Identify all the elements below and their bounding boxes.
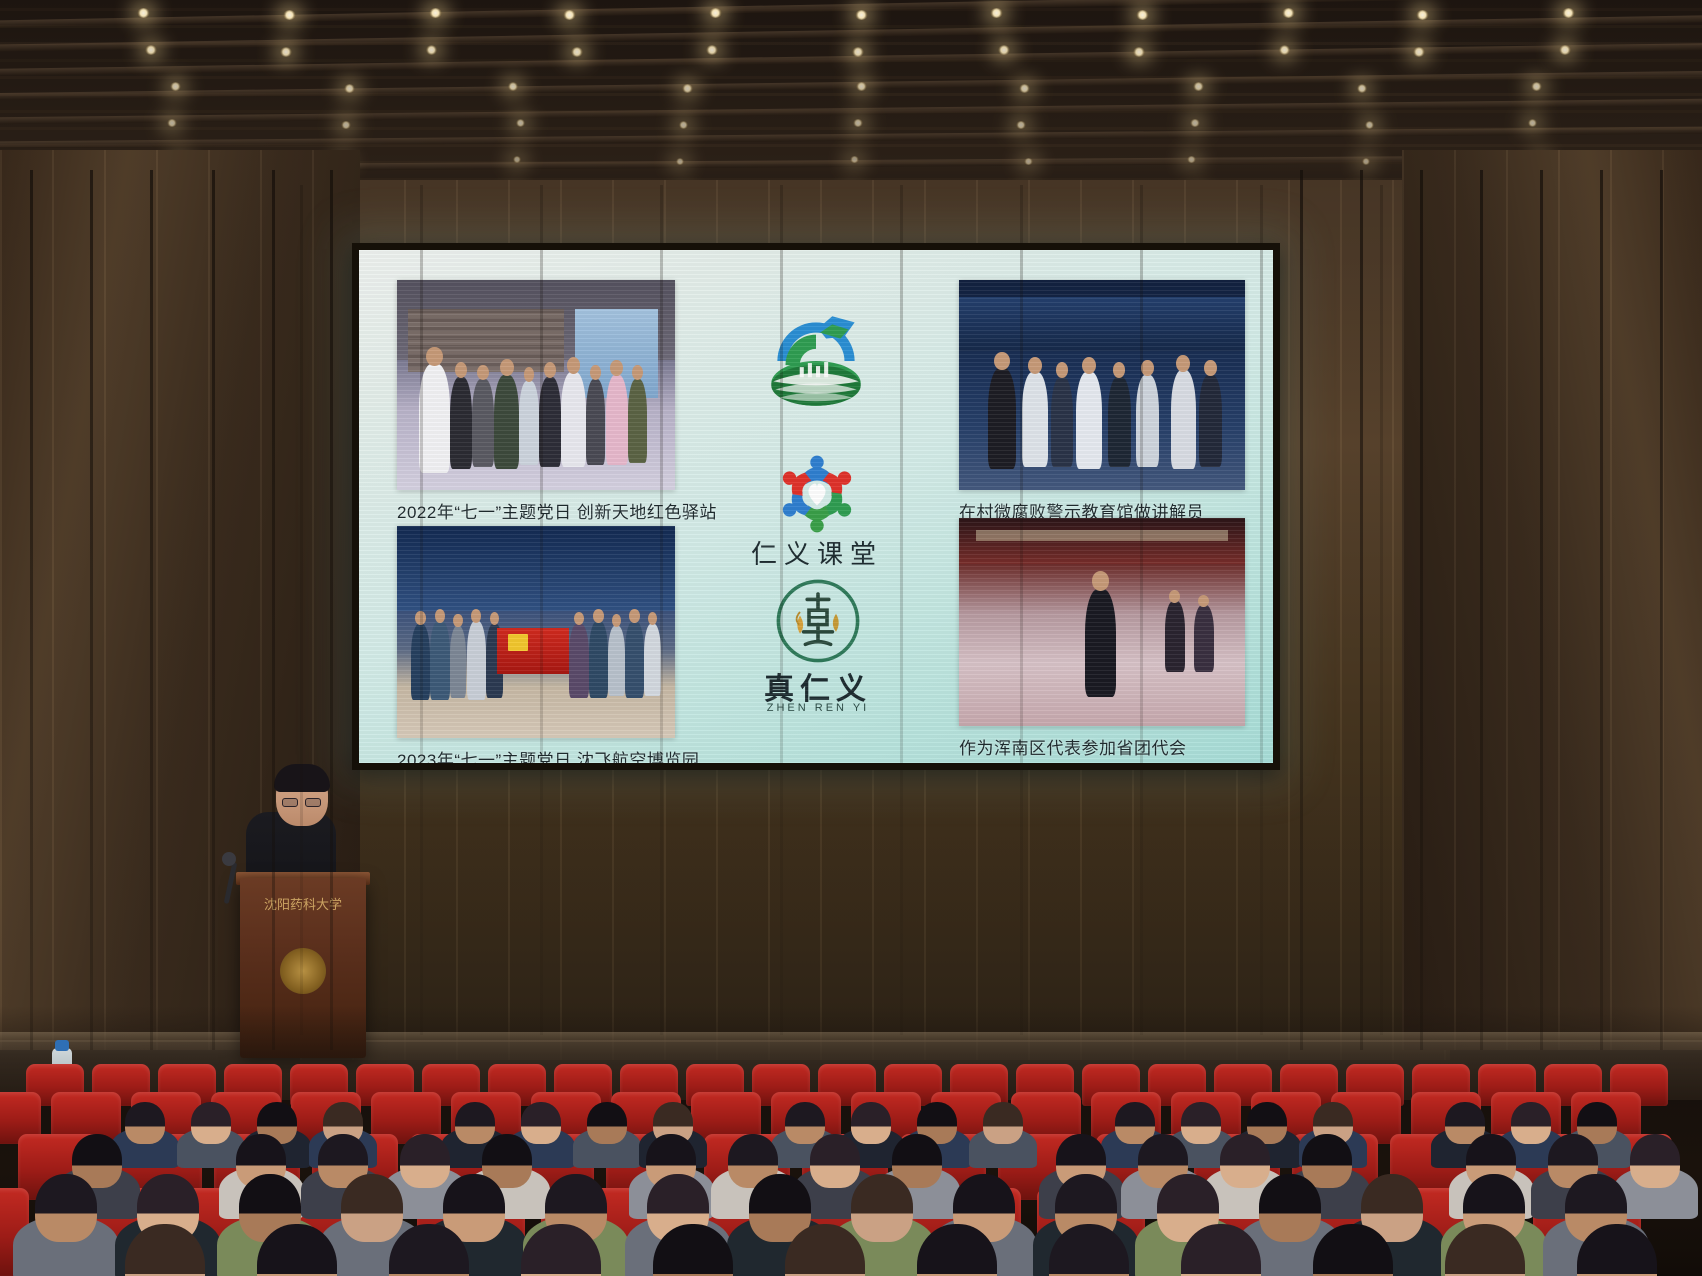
ceiling-light xyxy=(682,84,693,93)
right-wall-texture xyxy=(1402,150,1702,1050)
caption-bottom-right: 作为浑南区代表参加省团代会 xyxy=(959,734,1187,759)
ceiling-light xyxy=(856,82,867,91)
photo-figure xyxy=(1051,377,1074,467)
ceiling-slat xyxy=(0,25,1702,28)
photo-figure xyxy=(625,621,644,697)
wall-panel-seam xyxy=(30,170,33,1050)
photo-figure xyxy=(450,626,467,698)
ceiling-light xyxy=(1136,10,1149,20)
photo-figure xyxy=(608,626,625,696)
ceiling-light xyxy=(852,47,864,57)
photo-figure xyxy=(519,381,538,465)
ceiling-light xyxy=(1365,121,1375,129)
wall-panel-seam xyxy=(150,170,153,1050)
photo-figure xyxy=(1194,605,1214,672)
photo-figure xyxy=(589,621,608,697)
ceiling-light xyxy=(1019,84,1030,93)
photo-figure-head xyxy=(1204,360,1217,377)
photo-figure xyxy=(988,368,1017,469)
ceiling-light xyxy=(1016,121,1026,129)
back-wall-seam xyxy=(540,185,543,1035)
photo-figure xyxy=(561,372,586,467)
back-wall-seam xyxy=(900,185,903,1035)
photo-figure xyxy=(430,621,449,699)
audience-member-head xyxy=(1181,1102,1221,1144)
presentation-slide: 2022年“七一”主题党日 创新天地红色驿站 在村微腐败警示教育馆做讲解员 20… xyxy=(359,250,1273,763)
ceiling-light xyxy=(167,119,177,127)
screenshot-root: 2022年“七一”主题党日 创新天地红色驿站 在村微腐败警示教育馆做讲解员 20… xyxy=(0,0,1702,1276)
back-wall-seam xyxy=(780,185,783,1035)
ceiling-slat xyxy=(0,42,1702,45)
ceiling-light xyxy=(1416,10,1429,20)
ceiling-light xyxy=(850,156,859,163)
back-wall-seam xyxy=(1260,185,1263,1035)
audience-member-head xyxy=(1220,1134,1270,1188)
ceiling-light xyxy=(341,121,351,129)
photo-figure xyxy=(644,624,661,696)
logo-zhen-ren-yi xyxy=(773,576,863,666)
photo-figure xyxy=(1171,370,1197,469)
audience-member-head xyxy=(1511,1102,1551,1144)
photo-figure-head xyxy=(426,347,443,367)
eyeglasses-right-lens xyxy=(305,798,321,807)
ceiling-slat xyxy=(0,110,1702,113)
back-wall-seam xyxy=(660,185,663,1035)
audience-member-head xyxy=(785,1102,825,1144)
ceiling-light xyxy=(426,45,438,55)
ceiling-light xyxy=(1279,45,1291,55)
photo-figure xyxy=(1076,372,1102,469)
photo-figure-head xyxy=(994,352,1010,370)
ceiling-light xyxy=(145,45,157,55)
photo-figure-head xyxy=(1198,595,1209,607)
photo-figure-head xyxy=(500,359,514,376)
ceiling-light xyxy=(1531,82,1542,91)
audience-member-head xyxy=(851,1174,913,1242)
ceiling-light xyxy=(1413,47,1425,57)
photo-figure xyxy=(1022,372,1048,467)
ceiling-light xyxy=(516,119,526,127)
ceiling-light xyxy=(998,45,1010,55)
photo-figure-head xyxy=(453,614,462,627)
ceiling-light xyxy=(1357,84,1368,93)
ceiling-light xyxy=(1024,158,1033,165)
ceiling-light xyxy=(1559,45,1571,55)
ceiling-light xyxy=(990,8,1003,18)
ceiling-light xyxy=(1528,119,1538,127)
audience-member-head xyxy=(125,1102,165,1144)
wall-panel-seam xyxy=(1600,170,1603,1050)
audience-member-head xyxy=(521,1102,561,1144)
wall-panel-seam xyxy=(90,170,93,1050)
photo-figure-head xyxy=(1141,360,1154,377)
ceiling-light xyxy=(344,84,355,93)
wall-panel-seam xyxy=(1360,170,1363,1050)
audience-member-head xyxy=(810,1134,860,1188)
ceiling-light xyxy=(1187,156,1196,163)
wall-panel-seam xyxy=(1420,170,1423,1050)
audience-member-head xyxy=(983,1102,1023,1144)
slide-photo-top-right xyxy=(959,280,1245,490)
photo-figure-head xyxy=(612,614,621,627)
photo-figure-head xyxy=(593,609,604,623)
audience-area: 121017121311913 xyxy=(0,1006,1702,1276)
slide-photo-bottom-left xyxy=(397,526,675,738)
photo-figure xyxy=(628,379,647,463)
wall-panel-seam xyxy=(1300,170,1303,1050)
photo-figure xyxy=(1085,589,1116,697)
ceiling-light xyxy=(1362,158,1371,165)
wall-panel-seam xyxy=(330,170,333,1050)
wall-panel-seam xyxy=(1660,170,1663,1050)
microphone-head xyxy=(222,852,236,866)
back-wall-seam xyxy=(1380,185,1383,1035)
photo-figure xyxy=(472,379,494,467)
audience-member-head xyxy=(1630,1134,1680,1188)
audience-member-head xyxy=(1259,1174,1321,1242)
back-wall-seam xyxy=(300,185,303,1035)
photo-figure xyxy=(1108,377,1131,467)
photo-figure-head xyxy=(1028,357,1042,374)
ceiling-light xyxy=(283,10,296,20)
ceiling-light xyxy=(429,8,442,18)
photo-figure xyxy=(606,375,628,465)
back-wall-seam xyxy=(1140,185,1143,1035)
university-crest-icon xyxy=(280,948,326,994)
wall-panel-seam xyxy=(272,170,275,1050)
audience-member-head xyxy=(341,1174,403,1242)
logo-renyi-classroom-caption: 仁义课堂 xyxy=(745,534,889,571)
ceiling-light xyxy=(513,156,522,163)
logo-zhen-ren-yi-subcaption: ZHEN REN YI xyxy=(745,702,891,714)
ceiling-slat xyxy=(0,8,1702,11)
caption-top-left: 2022年“七一”主题党日 创新天地红色驿站 xyxy=(397,498,717,523)
ceiling-light xyxy=(855,10,868,20)
logo-globe-farm xyxy=(755,298,877,420)
audience-member-head xyxy=(191,1102,231,1144)
back-wall-seam xyxy=(1020,185,1023,1035)
ceiling-light xyxy=(563,10,576,20)
water-bottle-cap xyxy=(55,1040,69,1051)
audience-member-head xyxy=(455,1102,495,1144)
audience-member-head xyxy=(35,1174,97,1242)
photo-figure xyxy=(1165,601,1185,672)
photo-figure xyxy=(1199,375,1222,467)
slide-photo-bottom-right xyxy=(959,518,1245,726)
photo-figure xyxy=(586,379,605,465)
photo-figure-head xyxy=(490,612,499,625)
photo-figure xyxy=(450,377,472,469)
eyeglasses-left-lens xyxy=(282,798,298,807)
photo-figure xyxy=(467,621,486,699)
ceiling-beam xyxy=(0,68,1702,102)
wall-panel-seam xyxy=(1540,170,1543,1050)
photo-figure-head xyxy=(1092,571,1109,590)
ceiling-slat xyxy=(0,76,1702,79)
ceiling-light xyxy=(706,45,718,55)
ceiling-light xyxy=(679,121,689,129)
back-wall-seam xyxy=(420,185,423,1035)
ceiling-light xyxy=(1282,8,1295,18)
ceiling-light xyxy=(1133,47,1145,57)
ceiling-light xyxy=(280,47,292,57)
audience-member-head xyxy=(400,1134,450,1188)
ceiling-light xyxy=(571,47,583,57)
slide-photo-top-left xyxy=(397,280,675,490)
wall-panel-seam xyxy=(212,170,215,1050)
caption-bottom-left: 2023年“七一”主题党日 沈飞航空博览园 xyxy=(397,746,699,763)
ceiling-slat xyxy=(0,93,1702,96)
ceiling-light xyxy=(709,8,722,18)
ceiling-light xyxy=(1193,82,1204,91)
logo-renyi-classroom xyxy=(769,446,865,542)
photo-figure-head xyxy=(629,609,640,623)
audience-member-head xyxy=(587,1102,627,1144)
photo-figure-head xyxy=(632,365,643,380)
ceiling-light xyxy=(508,82,519,91)
ceiling-light xyxy=(170,82,181,91)
photo-figure-head xyxy=(1169,590,1180,603)
ceiling-slat xyxy=(0,144,1702,147)
photo-figure xyxy=(419,364,450,473)
ceiling-light xyxy=(853,119,863,127)
photo-figure xyxy=(494,375,519,470)
right-wall xyxy=(1402,150,1702,1050)
wall-panel-seam xyxy=(1480,170,1483,1050)
photo-figure-head xyxy=(610,360,622,376)
ceiling-light xyxy=(1190,119,1200,127)
audience-member-head xyxy=(851,1102,891,1144)
ceiling-slat xyxy=(0,59,1702,62)
photo-figure xyxy=(569,624,588,698)
ceiling-slat xyxy=(0,127,1702,130)
